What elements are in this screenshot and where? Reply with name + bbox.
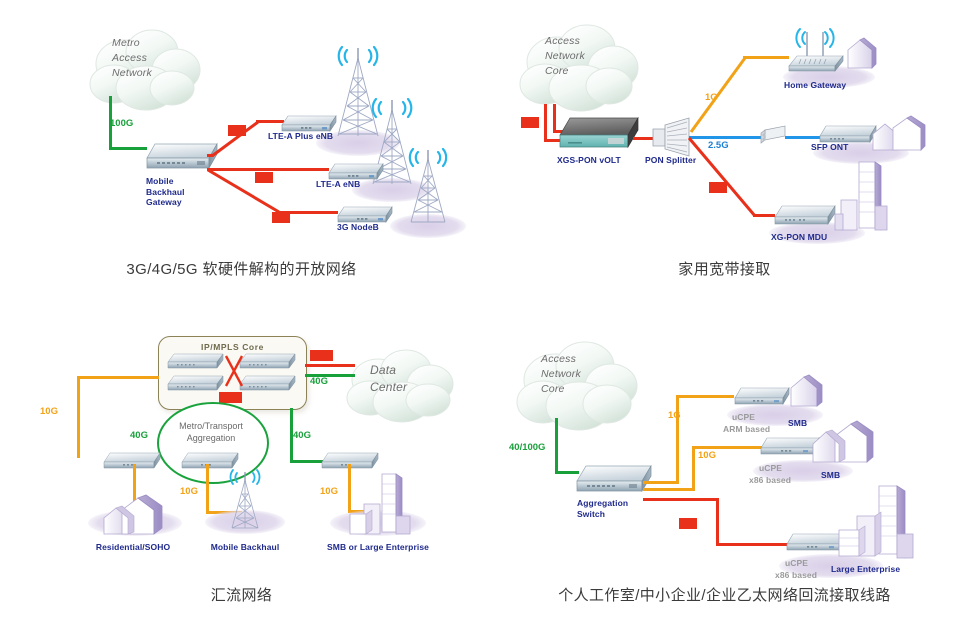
ucpe-x86-smb-sublabel: x86 based bbox=[749, 475, 791, 486]
link-10g-c-diagonal bbox=[207, 168, 297, 216]
3g-nodeb-label: 3G NodeB bbox=[337, 222, 379, 233]
ucpe-x86-smb-label: uCPE bbox=[759, 463, 782, 474]
xgs-pon-volt-device bbox=[556, 113, 646, 159]
cell-tower-3 bbox=[396, 146, 460, 228]
bandwidth-10g-core: 10G bbox=[521, 117, 539, 128]
sfp-ont-label: SFP ONT bbox=[811, 142, 848, 153]
link-1g-horizontal bbox=[676, 395, 734, 398]
home-building-icon bbox=[840, 36, 880, 72]
large-enterprise-site-label: Large Enterprise bbox=[831, 564, 900, 575]
home-gateway-label: Home Gateway bbox=[784, 80, 846, 91]
sfp-module-icon bbox=[759, 124, 789, 148]
bandwidth-10g-enterprise: 10G bbox=[320, 486, 338, 497]
link-1g-vertical bbox=[676, 395, 679, 483]
aggregation-switch-label: Aggregation Switch bbox=[577, 498, 628, 519]
link-10g-a-diagonal bbox=[210, 118, 270, 158]
smb-house-icon-1 bbox=[783, 372, 827, 412]
panel-3g4g5g-open-network: Metro Access Network 100G Mobile Backhau… bbox=[0, 0, 483, 314]
access-network-core-label-2: Access Network Core bbox=[541, 352, 581, 398]
mobile-backhaul-tower bbox=[218, 466, 272, 534]
metro-access-network-label: Metro Access Network bbox=[112, 36, 152, 82]
core-inner-bandwidth: 100G bbox=[219, 392, 242, 403]
panel-ethernet-backhaul-access: Access Network Core 40/100G Aggregation … bbox=[483, 314, 966, 628]
mdu-highrise-icon bbox=[831, 158, 893, 236]
ucpe-x86-enterprise-sublabel: x86 based bbox=[775, 570, 817, 581]
core-router-3 bbox=[165, 374, 227, 394]
panel-4-caption: 个人工作室/中小企业/企业乙太网络回流接取线路 bbox=[483, 584, 966, 605]
link-10g-res-vertical bbox=[77, 376, 80, 458]
link-40-100g-vertical bbox=[555, 418, 558, 474]
residential-soho-label: Residential/SOHO bbox=[96, 542, 170, 553]
bandwidth-10g-mdu: 10G bbox=[709, 182, 727, 193]
link-10g-mobile-vertical bbox=[206, 464, 209, 514]
access-network-core-label: Access Network Core bbox=[545, 34, 585, 80]
ucpe-x86-enterprise-label: uCPE bbox=[785, 558, 808, 569]
panel-4-stage: Access Network Core 40/100G Aggregation … bbox=[483, 314, 966, 628]
bandwidth-10g-ucpe-x86: 10G bbox=[698, 450, 716, 461]
bandwidth-10g-a: 10G bbox=[228, 125, 246, 136]
smb-site-label-1: SMB bbox=[788, 418, 807, 429]
core-router-1 bbox=[165, 352, 227, 372]
link-1g-diagonal bbox=[685, 52, 769, 136]
smb-buildings-icon-2 bbox=[807, 418, 877, 470]
link-100g-horizontal bbox=[109, 147, 147, 150]
bandwidth-100g: 100G bbox=[110, 118, 133, 129]
enterprise-building-icon bbox=[340, 470, 418, 540]
ucpe-arm-label: uCPE bbox=[732, 412, 755, 423]
lte-a-plus-enb-label: LTE-A Plus eNB bbox=[268, 131, 333, 142]
lte-a-enb-label: LTE-A eNB bbox=[316, 179, 360, 190]
bandwidth-40g-right: 40G bbox=[293, 430, 311, 441]
bandwidth-1g-ucpe: 1G bbox=[668, 410, 681, 421]
residential-house-icon bbox=[96, 492, 176, 540]
link-10g-res-horizontal bbox=[77, 376, 159, 379]
data-center-label: Data Center bbox=[370, 362, 407, 397]
panel-aggregation-network: IP/MPLS Core bbox=[0, 314, 483, 628]
panel-2-caption: 家用宽带接取 bbox=[483, 258, 966, 279]
link-10g-vertical bbox=[692, 446, 695, 491]
bandwidth-10g-mobile: 10G bbox=[180, 486, 198, 497]
link-10g-red-vertical bbox=[716, 498, 719, 546]
access-switch-enterprise bbox=[318, 450, 384, 472]
xg-pon-mdu-label: XG-PON MDU bbox=[771, 232, 827, 243]
bandwidth-10g-c: 10G bbox=[272, 212, 290, 223]
link-1g-horizontal bbox=[743, 56, 789, 59]
bandwidth-10g-res: 10G bbox=[40, 406, 58, 417]
link-10g-stub bbox=[643, 488, 695, 491]
mobile-backhaul-gateway-label: Mobile Backhaul Gateway bbox=[146, 176, 185, 208]
bandwidth-100g-dc: 100G bbox=[310, 350, 333, 361]
mobile-backhaul-label: Mobile Backhaul bbox=[211, 542, 280, 553]
core-cross-links bbox=[222, 352, 248, 392]
bandwidth-1g: 1G bbox=[705, 92, 718, 103]
smb-large-enterprise-label: SMB or Large Enterprise bbox=[327, 542, 429, 553]
link-10g-red-stub bbox=[643, 498, 719, 501]
bandwidth-40g-dc: 40G bbox=[310, 376, 328, 387]
bandwidth-10g-enterprise-4: 10G bbox=[679, 518, 697, 529]
link-100g-to-dc bbox=[305, 364, 355, 367]
ip-mpls-core-title: IP/MPLS Core bbox=[159, 342, 306, 352]
bandwidth-40-100g: 40/100G bbox=[509, 442, 545, 453]
panel-3-caption: 汇流网络 bbox=[0, 584, 483, 605]
panel-1-caption: 3G/4G/5G 软硬件解构的开放网络 bbox=[0, 258, 483, 279]
link-10g-strand-a bbox=[544, 104, 547, 142]
panel-home-broadband-access: Access Network Core 10G XGS-PON vOLT bbox=[483, 0, 966, 314]
xgs-pon-volt-label: XGS-PON vOLT bbox=[557, 155, 621, 166]
panel-3-stage: IP/MPLS Core bbox=[0, 314, 483, 628]
large-enterprise-building-icon bbox=[829, 480, 919, 566]
bandwidth-40g-agg-left: 40G bbox=[130, 430, 148, 441]
metro-transport-aggregation-label: Metro/Transport Aggregation bbox=[157, 420, 265, 444]
link-1g-stub bbox=[643, 481, 679, 484]
sfp-ont-buildings-icon bbox=[867, 112, 929, 156]
aggregation-switch-device bbox=[573, 460, 657, 500]
